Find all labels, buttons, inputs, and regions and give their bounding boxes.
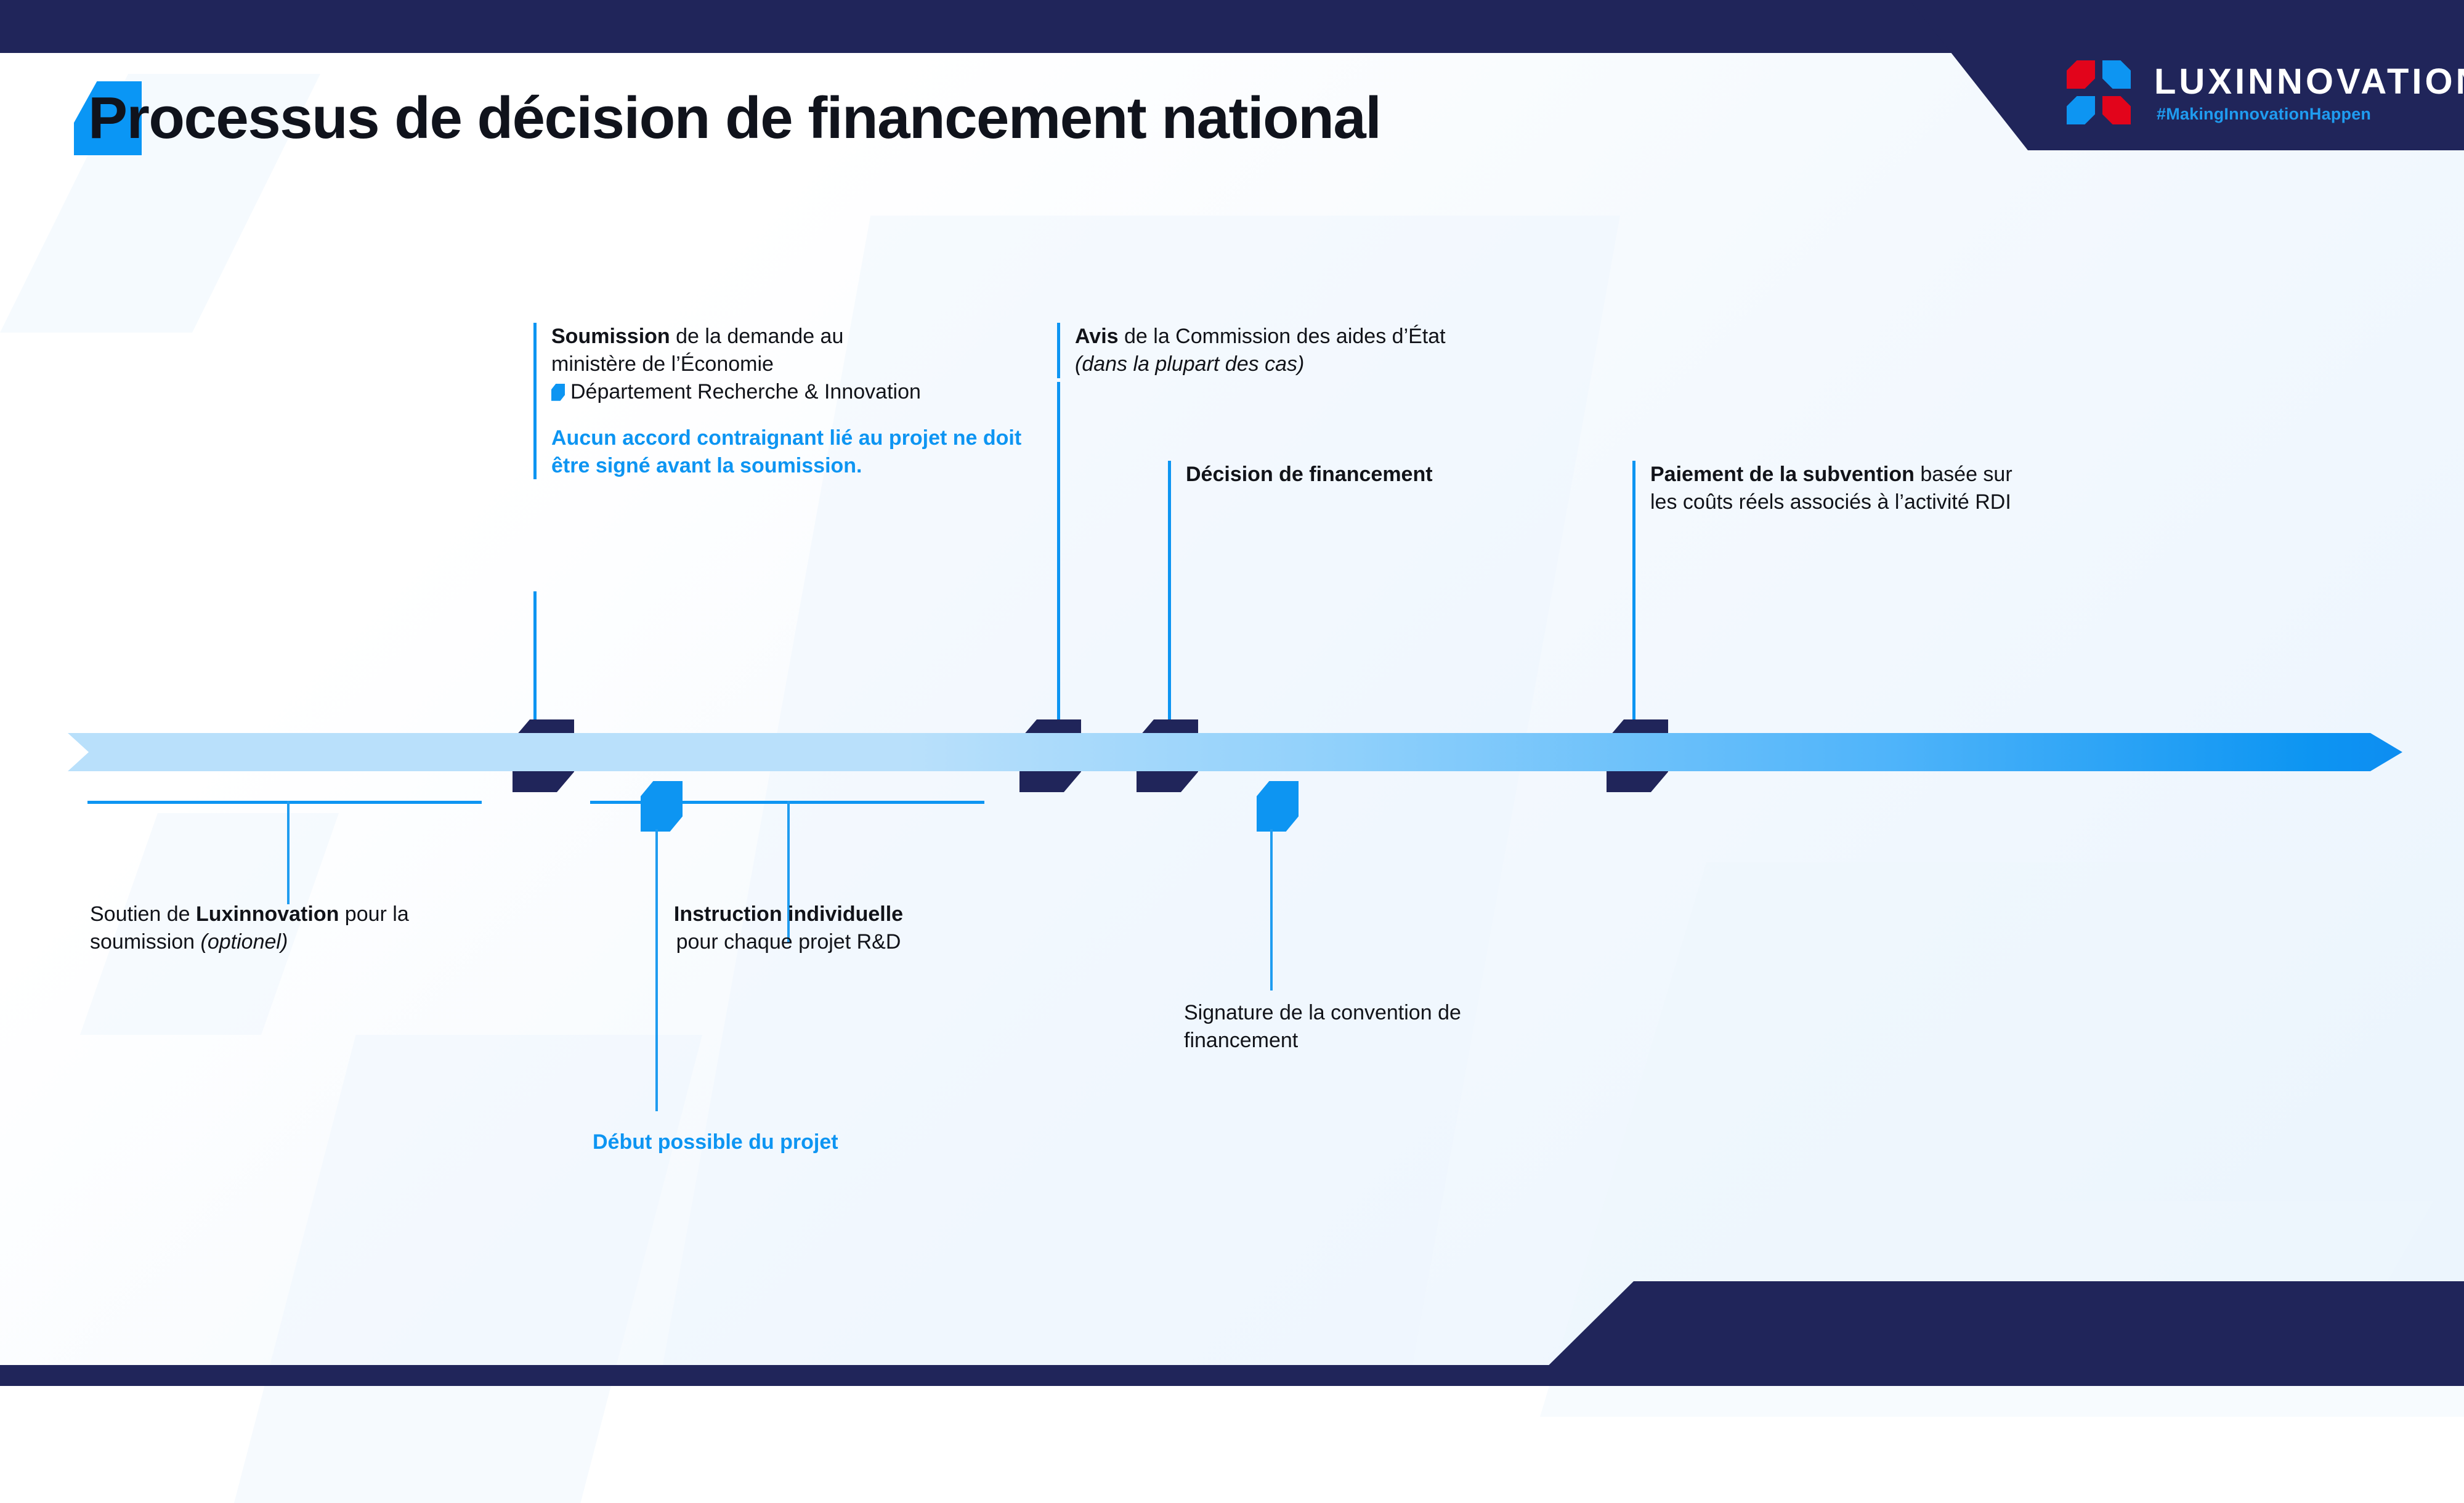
logo-petal-bottom-right	[2102, 96, 2131, 124]
callout-soumission-text: Soumission de la demande au ministère de…	[551, 323, 1044, 406]
callout-soumission-line2: ministère de l’Économie	[551, 352, 774, 376]
callout-decision-text: Décision de financement	[1186, 461, 1617, 488]
logo-tagline: #MakingInnovationHappen	[2157, 106, 2371, 123]
callout-soumission-bold: Soumission	[551, 325, 670, 348]
luxinnovation-logo: LUXINNOVATION #MakingInnovationHappen	[2067, 60, 2436, 128]
label-soutien-bold: Luxinnovation	[196, 902, 339, 926]
page-title: Processus de décision de financement nat…	[88, 83, 1380, 153]
label-instruction-post: pour chaque projet R&D	[676, 930, 901, 954]
callout-avis-text: Avis de la Commission des aides d’État (…	[1075, 323, 1568, 378]
connector-debut-projet	[655, 829, 658, 1111]
callout-paiement: Paiement de la subvention basée sur les …	[1632, 461, 2143, 516]
callout-soumission-line3: Département Recherche & Innovation	[570, 380, 921, 403]
label-soutien-pre: Soutien de	[90, 902, 196, 926]
label-instruction-bold: Instruction individuelle	[674, 902, 903, 926]
logo-wordmark: LUXINNOVATION	[2154, 64, 2464, 100]
connector-signature	[1270, 829, 1273, 991]
callout-paiement-bold: Paiement de la subvention	[1650, 463, 1915, 486]
callout-paiement-line2: les coûts réels associés à l’activité RD…	[1650, 490, 2011, 514]
callout-avis-italic: (dans la plupart des cas)	[1075, 352, 1304, 376]
timeline-bar	[68, 733, 2402, 771]
callout-paiement-rest: basée sur	[1915, 463, 2012, 486]
connector-decision	[1168, 487, 1171, 734]
callout-soumission-rest: de la demande au	[670, 325, 844, 348]
callout-avis-rest: de la Commission des aides d’État	[1119, 325, 1446, 348]
label-soutien-italic: (optionel)	[201, 930, 288, 954]
label-debut-projet: Début possible du projet	[593, 1128, 1024, 1156]
callout-paiement-text: Paiement de la subvention basée sur les …	[1650, 461, 2143, 516]
leaf-bullet-icon	[551, 384, 565, 401]
callout-avis-bold: Avis	[1075, 325, 1119, 348]
slide-canvas: LUXINNOVATION #MakingInnovationHappen Pr…	[0, 0, 2464, 1386]
logo-petal-top-left	[2067, 60, 2095, 89]
callout-soumission: Soumission de la demande au ministère de…	[533, 323, 1044, 479]
footer-strip	[0, 1365, 2464, 1386]
label-signature-line1: Signature de la convention de	[1184, 1001, 1461, 1024]
logo-x-icon	[2067, 60, 2131, 124]
connector-paiement	[1632, 487, 1635, 734]
label-instruction: Instruction individuellepour chaque proj…	[628, 901, 949, 956]
label-soutien: Soutien de Luxinnovation pour la soumiss…	[90, 901, 484, 956]
connector-avis	[1057, 382, 1060, 734]
logo-petal-bottom-left	[2067, 96, 2095, 124]
callout-avis: Avis de la Commission des aides d’État (…	[1057, 323, 1568, 378]
logo-petal-top-right	[2102, 60, 2131, 89]
bracket-soutien	[87, 801, 482, 804]
connector-soumission	[533, 591, 537, 734]
callout-soumission-highlight: Aucun accord contraignant lié au projet …	[551, 424, 1044, 480]
connector-soutien	[287, 801, 290, 904]
callout-decision: Décision de financement	[1168, 461, 1617, 488]
label-signature-line2: financement	[1184, 1029, 1298, 1052]
callout-decision-bold: Décision de financement	[1186, 463, 1433, 486]
label-signature: Signature de la convention definancement	[1184, 999, 1627, 1055]
